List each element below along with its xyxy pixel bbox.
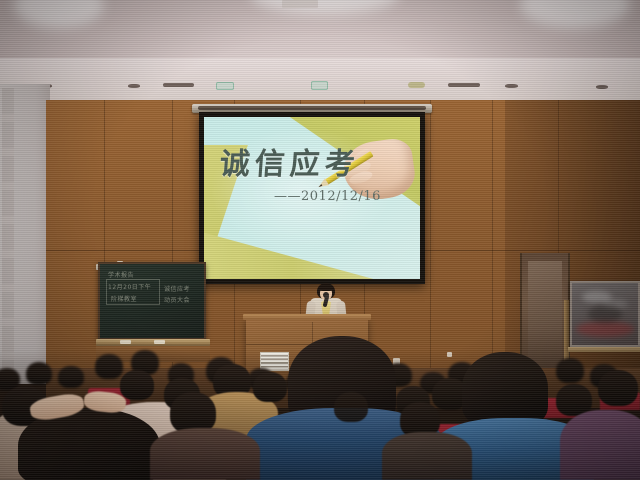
lectern-seam-horizontal — [246, 344, 312, 345]
chalk-line-1: 学术报告 — [108, 270, 134, 279]
projection-screen[interactable]: 诚信应考 ——2012/12/16 — [199, 112, 425, 284]
ceiling-light-5 — [311, 81, 328, 90]
left-wall-texture-strip — [2, 88, 14, 378]
chalk-eraser-1[interactable] — [120, 340, 131, 344]
audience-head — [253, 372, 287, 402]
ceiling-vent — [282, 0, 318, 8]
wall-switch-4[interactable] — [447, 352, 452, 357]
presenter-fringe — [318, 285, 334, 291]
chalkboard: 学术报告 12月20日下午 阶梯教室 诚信应考 动员大会 — [98, 262, 206, 340]
audience-head — [556, 358, 584, 383]
door-opening — [528, 261, 562, 373]
ceiling-light-6 — [408, 82, 425, 88]
lectern-top-edge — [243, 314, 371, 320]
slide-title: 诚信应考 — [218, 139, 361, 183]
board-smudge-dark — [588, 305, 622, 323]
audience-head — [58, 366, 84, 388]
chalk-tray — [96, 339, 210, 346]
presentation-slide: 诚信应考 ——2012/12/16 — [204, 117, 420, 279]
side-display-board — [570, 281, 640, 347]
audience-head-right — [462, 352, 548, 426]
ceiling-light-7 — [448, 83, 480, 87]
audience-shoulders — [382, 432, 472, 480]
slide-date: ——2012/12/16 — [274, 189, 381, 204]
ceiling-light-8 — [505, 84, 518, 88]
ceiling-light-3 — [163, 83, 194, 87]
roller-bar — [198, 106, 426, 110]
wood-panel-seam-7 — [430, 100, 493, 390]
chalk-right-line-2: 动员大会 — [164, 295, 190, 304]
audience-shoulders — [150, 428, 260, 480]
audience-head — [26, 362, 52, 385]
chalk-right-line-1: 诚信应考 — [164, 284, 190, 293]
audience-head — [120, 370, 154, 400]
board-support-post — [564, 300, 569, 366]
ceiling-light-9 — [596, 85, 608, 89]
chalk-eraser-2[interactable] — [154, 340, 165, 344]
side-board-tray — [568, 347, 640, 352]
board-smudge-red — [576, 321, 634, 337]
lecture-hall-photo: 诚信应考 ——2012/12/16 学术报告 12月20日下午 阶梯教室 诚信应… — [0, 0, 640, 480]
audience-head — [334, 392, 368, 422]
chalk-line-3: 阶梯教室 — [111, 294, 137, 303]
chalk-line-2: 12月20日下午 — [108, 282, 151, 291]
audience-shoulders — [560, 410, 640, 480]
audience-head — [598, 370, 638, 406]
audience-head — [95, 354, 123, 379]
ceiling-light-4 — [216, 82, 234, 90]
ceiling-light-2 — [128, 84, 140, 88]
